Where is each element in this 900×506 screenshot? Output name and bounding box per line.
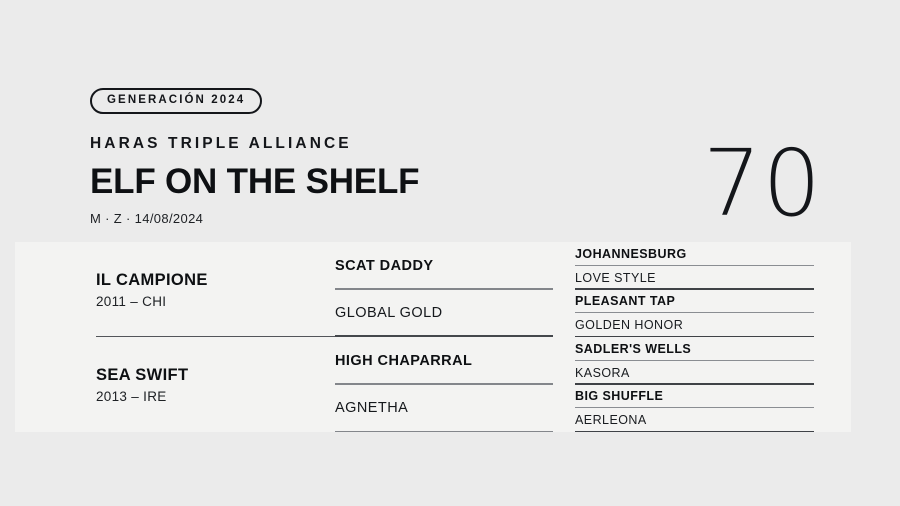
- pedigree-cell-great-grandparent: GOLDEN HONOR: [575, 313, 814, 337]
- great-grandparent-name: GOLDEN HONOR: [575, 318, 683, 332]
- great-grandparent-name: SADLER'S WELLS: [575, 342, 691, 356]
- horse-meta: M · Z · 14/08/2024: [90, 211, 690, 226]
- dam-name: SEA SWIFT: [96, 366, 335, 385]
- catalogue-header: GENERACIÓN 2024 HARAS TRIPLE ALLIANCE EL…: [90, 88, 690, 226]
- pedigree-cell-grandparent: AGNETHA: [335, 385, 553, 433]
- dam-detail: 2013 – IRE: [96, 389, 335, 404]
- pedigree-cell-great-grandparent: BIG SHUFFLE: [575, 385, 814, 409]
- great-grandparent-name: AERLEONA: [575, 413, 647, 427]
- pedigree-column-great-grandparents: JOHANNESBURG LOVE STYLE PLEASANT TAP GOL…: [575, 242, 851, 432]
- pedigree-cell-grandparent: HIGH CHAPARRAL: [335, 337, 553, 385]
- pedigree-cell-great-grandparent: LOVE STYLE: [575, 266, 814, 290]
- pedigree-cell-grandparent: GLOBAL GOLD: [335, 290, 553, 338]
- pedigree-column-parents: IL CAMPIONE 2011 – CHI SEA SWIFT 2013 – …: [15, 242, 335, 432]
- sire-detail: 2011 – CHI: [96, 294, 335, 309]
- pedigree-cell-great-grandparent: JOHANNESBURG: [575, 242, 814, 266]
- pedigree-cell-grandparent: SCAT DADDY: [335, 242, 553, 290]
- lot-number: 70: [703, 138, 822, 230]
- breeder-name: HARAS TRIPLE ALLIANCE: [90, 135, 690, 153]
- pedigree-cell-sire: IL CAMPIONE 2011 – CHI: [96, 242, 335, 337]
- pedigree-cell-dam: SEA SWIFT 2013 – IRE: [96, 337, 335, 432]
- great-grandparent-name: KASORA: [575, 366, 630, 380]
- page-title: ELF ON THE SHELF: [90, 164, 690, 200]
- pedigree-cell-great-grandparent: SADLER'S WELLS: [575, 337, 814, 361]
- great-grandparent-name: BIG SHUFFLE: [575, 389, 663, 403]
- pedigree-panel: IL CAMPIONE 2011 – CHI SEA SWIFT 2013 – …: [15, 242, 851, 432]
- great-grandparent-name: LOVE STYLE: [575, 271, 656, 285]
- great-grandparent-name: PLEASANT TAP: [575, 294, 675, 308]
- pedigree-cell-great-grandparent: KASORA: [575, 361, 814, 385]
- great-grandparent-name: JOHANNESBURG: [575, 247, 687, 261]
- pedigree-cell-great-grandparent: PLEASANT TAP: [575, 290, 814, 314]
- pedigree-cell-great-grandparent: AERLEONA: [575, 408, 814, 432]
- grandparent-name: AGNETHA: [335, 400, 408, 416]
- grandparent-name: HIGH CHAPARRAL: [335, 353, 472, 369]
- pedigree-column-grandparents: SCAT DADDY GLOBAL GOLD HIGH CHAPARRAL AG…: [335, 242, 575, 432]
- sire-name: IL CAMPIONE: [96, 271, 335, 290]
- generation-badge: GENERACIÓN 2024: [90, 88, 262, 114]
- grandparent-name: GLOBAL GOLD: [335, 305, 443, 321]
- grandparent-name: SCAT DADDY: [335, 258, 433, 274]
